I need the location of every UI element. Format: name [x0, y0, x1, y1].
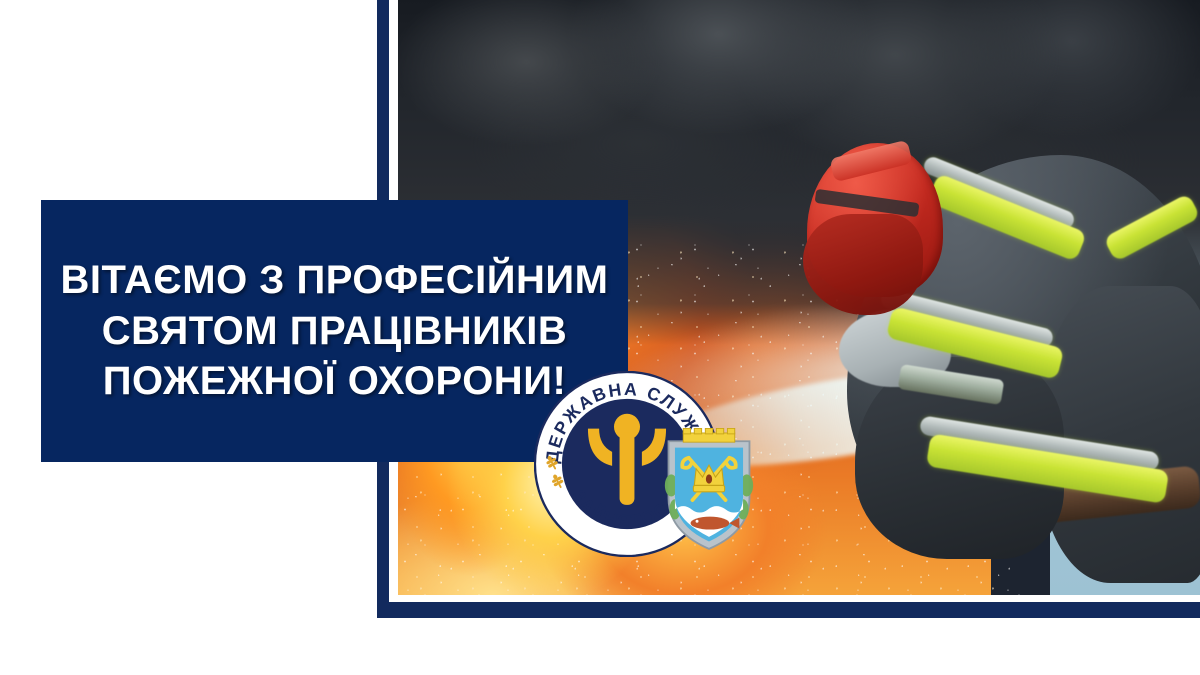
mural-crown-icon	[683, 428, 735, 442]
firefighter-hip	[1040, 286, 1200, 584]
banner-canvas: ВІТАЄМО З ПРОФЕСІЙНИМСВЯТОМ ПРАЦІВНИКІВП…	[0, 0, 1200, 675]
mykolaiv-oblast-coat-of-arms	[663, 428, 755, 552]
